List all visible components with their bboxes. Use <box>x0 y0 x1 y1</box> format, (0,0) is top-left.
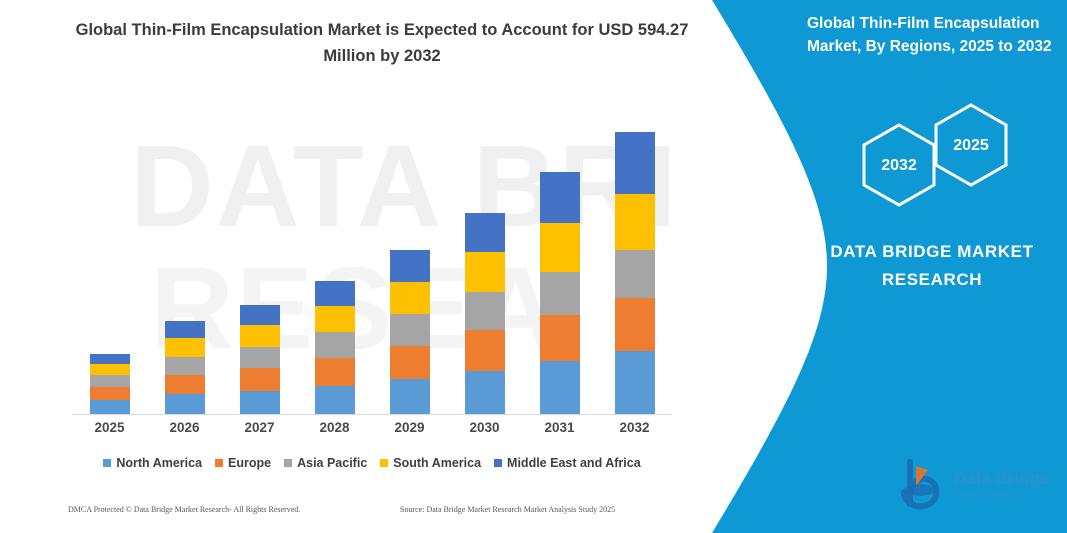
bar-segment <box>615 298 655 350</box>
footer-copyright: DMCA Protected © Data Bridge Market Rese… <box>68 505 300 514</box>
x-axis-label-2032: 2032 <box>600 420 670 435</box>
bar-segment <box>390 282 430 314</box>
legend-item[interactable]: North America <box>103 456 202 470</box>
hexagon-2025: 2025 <box>936 105 1006 185</box>
logo-b-mark <box>902 462 938 506</box>
brand-line-1: DATA BRIDGE MARKET <box>830 242 1033 261</box>
legend-item[interactable]: Middle East and Africa <box>494 456 641 470</box>
bar-segment <box>540 172 580 222</box>
hexagon-2032: 2032 <box>864 125 934 205</box>
bar-segment <box>315 281 355 306</box>
bar-segment <box>465 252 505 292</box>
legend-label: South America <box>393 456 481 470</box>
bar-segment <box>390 314 430 345</box>
bar-segment <box>315 358 355 386</box>
bar-segment <box>615 194 655 249</box>
legend-swatch-icon <box>494 459 502 467</box>
legend-swatch-icon <box>380 459 388 467</box>
chart-title: Global Thin-Film Encapsulation Market is… <box>72 18 692 69</box>
bar-segment <box>465 213 505 252</box>
bar-segment <box>165 375 205 394</box>
footer-source: Source: Data Bridge Market Research Mark… <box>400 505 615 514</box>
bar-segment <box>165 394 205 414</box>
x-axis-label-2031: 2031 <box>525 420 595 435</box>
bar-segment <box>540 315 580 360</box>
bar-segment <box>240 391 280 414</box>
x-axis-label-2030: 2030 <box>450 420 520 435</box>
bar-segment <box>540 223 580 272</box>
bar-segment <box>165 357 205 375</box>
bar-segment <box>390 250 430 282</box>
data-bridge-logo: Data Bridge Market Research <box>894 456 1067 512</box>
bar-2028 <box>315 281 355 414</box>
bar-segment <box>165 338 205 356</box>
bar-2031 <box>540 172 580 414</box>
bar-segment <box>390 379 430 414</box>
footer: DMCA Protected © Data Bridge Market Rese… <box>0 505 720 525</box>
legend-item[interactable]: Europe <box>215 456 271 470</box>
x-axis-line <box>72 414 672 415</box>
chart-pane: Global Thin-Film Encapsulation Market is… <box>0 0 720 533</box>
bar-segment <box>615 132 655 194</box>
bar-segment <box>465 292 505 330</box>
bar-2032 <box>615 132 655 414</box>
legend-label: Asia Pacific <box>297 456 367 470</box>
legend-label: Middle East and Africa <box>507 456 641 470</box>
brand-line-2: RESEARCH <box>882 270 982 289</box>
svg-text:Market Research: Market Research <box>954 490 1023 500</box>
chart-legend: North AmericaEuropeAsia PacificSouth Ame… <box>72 456 672 470</box>
svg-text:2025: 2025 <box>953 137 989 154</box>
legend-swatch-icon <box>215 459 223 467</box>
bar-segment <box>540 361 580 414</box>
bar-segment <box>240 347 280 368</box>
brand-name: DATA BRIDGE MARKET RESEARCH <box>807 238 1057 294</box>
legend-swatch-icon <box>103 459 111 467</box>
bar-segment <box>315 306 355 332</box>
bar-2029 <box>390 250 430 414</box>
bar-segment <box>240 325 280 346</box>
bar-segment <box>465 371 505 414</box>
market-chart-infographic: DATA BRI RESEA Global Thin-Film Encapsul… <box>0 0 1067 533</box>
bar-2027 <box>240 305 280 414</box>
bar-segment <box>90 375 130 387</box>
legend-label: North America <box>116 456 202 470</box>
svg-text:2032: 2032 <box>881 157 917 174</box>
plot-area <box>72 110 672 415</box>
x-axis-labels: 20252026202720282029203020312032 <box>72 420 672 442</box>
panel-title: Global Thin-Film Encapsulation Market, B… <box>807 12 1059 59</box>
bar-segment <box>90 364 130 375</box>
bar-segment <box>615 250 655 298</box>
bar-segment <box>390 346 430 379</box>
bar-segment <box>465 330 505 370</box>
x-axis-label-2025: 2025 <box>75 420 145 435</box>
bar-segment <box>240 368 280 391</box>
bar-segment <box>315 386 355 414</box>
x-axis-label-2029: 2029 <box>375 420 445 435</box>
bar-segment <box>615 351 655 414</box>
legend-swatch-icon <box>284 459 292 467</box>
bar-2025 <box>90 354 130 414</box>
legend-item[interactable]: South America <box>380 456 481 470</box>
bar-segment <box>315 332 355 357</box>
bar-2026 <box>165 321 205 414</box>
x-axis-label-2026: 2026 <box>150 420 220 435</box>
x-axis-label-2027: 2027 <box>225 420 295 435</box>
legend-label: Europe <box>228 456 271 470</box>
x-axis-label-2028: 2028 <box>300 420 370 435</box>
bar-segment <box>90 400 130 414</box>
bar-segment <box>240 305 280 325</box>
year-hexagons: 2032 2025 <box>842 100 1057 210</box>
bar-segment <box>165 321 205 338</box>
bar-2030 <box>465 213 505 414</box>
bar-segment <box>90 354 130 364</box>
bar-segment <box>90 387 130 400</box>
brand-panel: Global Thin-Film Encapsulation Market, B… <box>697 0 1067 533</box>
legend-item[interactable]: Asia Pacific <box>284 456 367 470</box>
bar-segment <box>540 272 580 315</box>
svg-text:Data Bridge: Data Bridge <box>954 469 1049 488</box>
